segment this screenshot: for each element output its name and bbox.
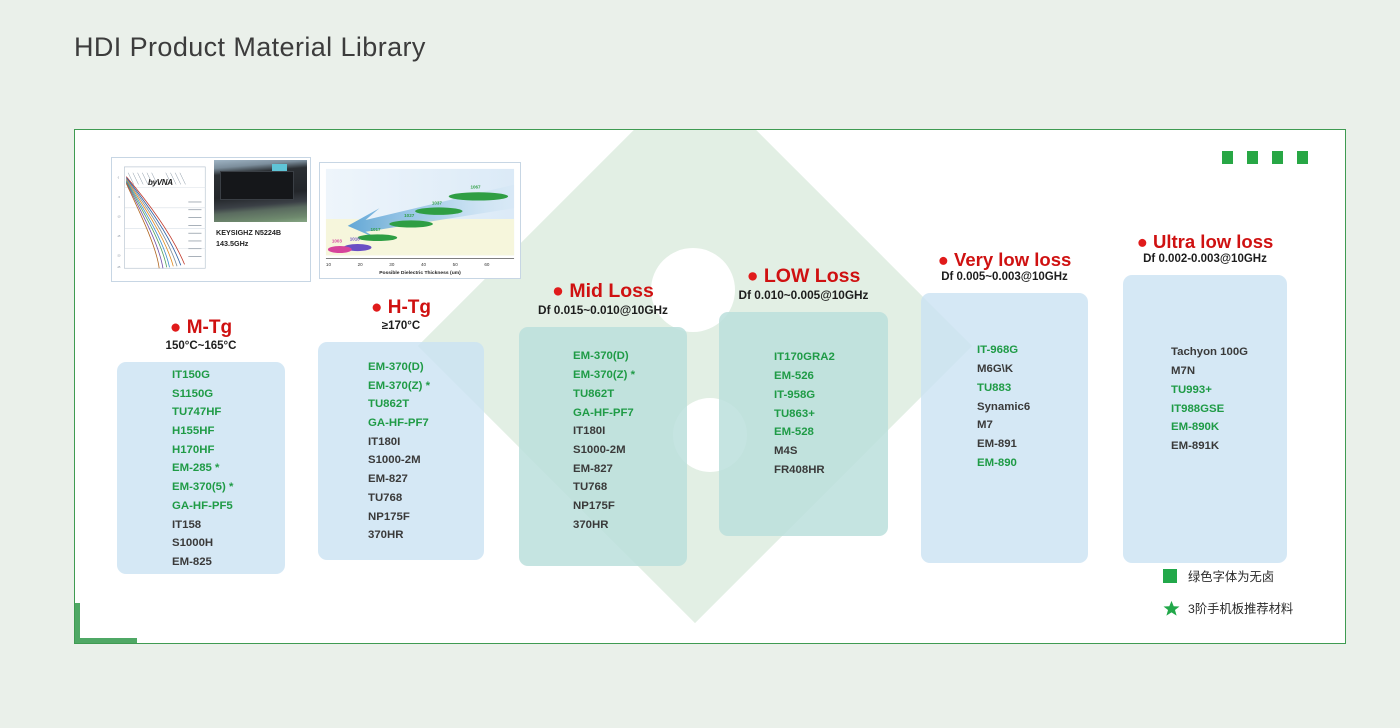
column-subtitle: Df 0.010~0.005@10GHz [719,288,888,302]
material-item[interactable]: EM-891K [1171,437,1287,456]
material-item[interactable]: IT180I [368,433,484,452]
svg-text:1027: 1027 [404,213,415,218]
svg-text:20: 20 [358,262,364,267]
svg-text:60: 60 [484,262,490,267]
material-list: EM-370(D)EM-370(Z) *TU862TGA-HF-PF7IT180… [318,342,484,545]
corner-accent-horizontal [75,638,137,643]
svg-text:1067: 1067 [470,185,481,190]
corner-accent-vertical [75,603,80,643]
material-item[interactable]: EM-370(D) [368,358,484,377]
legend-label-halogen-free: 绿色字体为无卤 [1188,567,1274,585]
material-column-low[interactable]: ● LOW LossDf 0.010~0.005@10GHzIT170GRA2E… [719,266,888,536]
material-item[interactable]: EM-890 [977,454,1088,473]
material-item[interactable]: EM-370(D) [573,347,687,366]
material-item[interactable]: H170HF [172,441,285,460]
column-subtitle: 150°C~165°C [117,340,285,352]
material-item[interactable]: TU768 [573,478,687,497]
column-subtitle: ≥170°C [318,320,484,332]
material-item[interactable]: EM-528 [774,423,888,442]
svg-text:40: 40 [421,262,427,267]
material-item[interactable]: EM-827 [573,460,687,479]
svg-text:-10: -10 [117,216,121,219]
material-column-verylow[interactable]: ● Very low lossDf 0.005~0.003@10GHzIT-96… [921,250,1088,563]
material-item[interactable]: 370HR [368,526,484,545]
svg-text:0: 0 [118,177,120,180]
svg-text:-20: -20 [117,255,121,258]
column-header: ● Very low lossDf 0.005~0.003@10GHz [921,250,1088,283]
material-item[interactable]: IT150G [172,366,285,385]
material-item[interactable]: IT988GSE [1171,400,1287,419]
vna-measurement-card: 0-5 -10-15 -20-25 byVNA KEYSIGHZ N5224B … [111,157,311,282]
material-item[interactable]: 370HR [573,516,687,535]
material-list: Tachyon 100GM7NTU993+IT988GSEEM-890KEM-8… [1123,275,1287,455]
material-item[interactable]: NP175F [573,497,687,516]
material-list: IT170GRA2EM-526IT-958GTU863+EM-528M4SFR4… [719,312,888,479]
column-header: ● Mid LossDf 0.015~0.010@10GHz [519,281,687,317]
material-item[interactable]: TU862T [573,385,687,404]
material-item[interactable]: M7N [1171,362,1287,381]
green-star-icon [1163,600,1180,617]
material-column-mid[interactable]: ● Mid LossDf 0.015~0.010@10GHzEM-370(D)E… [519,281,687,566]
column-title: ● Mid Loss [519,281,687,301]
bullet-icon: ● [938,249,954,270]
svg-text:-5: -5 [118,196,121,199]
svg-text:1010: 1010 [350,237,361,242]
material-item[interactable]: IT170GRA2 [774,348,888,367]
material-list: IT150GS1150GTU747HFH155HFH170HFEM-285 *E… [117,362,285,572]
decorative-dot [1272,151,1283,164]
legend: 绿色字体为无卤 3阶手机板推荐材料 [1163,567,1293,631]
material-list: EM-370(D)EM-370(Z) *TU862TGA-HF-PF7IT180… [519,327,687,534]
network-analyzer-photo [214,160,307,222]
material-card: IT-968GM6G\KTU883Synamic6M7EM-891EM-890 [921,293,1088,563]
decorative-dots [1222,151,1308,164]
bullet-icon: ● [747,265,764,287]
material-card: IT150GS1150GTU747HFH155HFH170HFEM-285 *E… [117,362,285,574]
material-item[interactable]: EM-526 [774,367,888,386]
material-card: Tachyon 100GM7NTU993+IT988GSEEM-890KEM-8… [1123,275,1287,563]
vna-caption: KEYSIGHZ N5224B 143.5GHz [214,222,307,250]
column-subtitle: Df 0.015~0.010@10GHz [519,303,687,317]
svg-text:1037: 1037 [432,200,443,205]
material-item[interactable]: GA-HF-PF7 [573,404,687,423]
svg-text:-25: -25 [117,266,121,269]
material-item[interactable]: M7 [977,416,1088,435]
material-card: EM-370(D)EM-370(Z) *TU862TGA-HF-PF7IT180… [519,327,687,566]
svg-text:-15: -15 [117,235,121,238]
material-item[interactable]: TU993+ [1171,381,1287,400]
column-subtitle: Df 0.002-0.003@10GHz [1123,253,1287,265]
green-square-icon [1163,569,1177,583]
svg-text:Possible Dielectric Thickness: Possible Dielectric Thickness (um) [379,270,461,276]
svg-text:1003: 1003 [332,239,343,244]
material-item[interactable]: EM-285 * [172,459,285,478]
legend-item-recommended: 3阶手机板推荐材料 [1163,599,1293,617]
column-title: ● H-Tg [318,298,484,318]
material-item[interactable]: EM-891 [977,435,1088,454]
column-header: ● LOW LossDf 0.010~0.005@10GHz [719,266,888,302]
column-header: ● Ultra low lossDf 0.002-0.003@10GHz [1123,232,1287,265]
material-item[interactable]: S1150G [172,385,285,404]
svg-text:1017: 1017 [370,227,381,232]
vna-insertion-loss-chart: 0-5 -10-15 -20-25 byVNA [112,158,212,281]
bullet-icon: ● [1137,231,1153,252]
material-item[interactable]: IT-968G [977,341,1088,360]
material-item[interactable]: NP175F [368,508,484,527]
column-title-label: M-Tg [187,317,232,338]
material-item[interactable]: GA-HF-PF5 [172,497,285,516]
material-item[interactable]: EM-825 [172,553,285,572]
material-item[interactable]: S1000-2M [573,441,687,460]
material-item[interactable]: TU862T [368,395,484,414]
column-title: ● Ultra low loss [1123,232,1287,251]
material-item[interactable]: EM-827 [368,470,484,489]
page-title: HDI Product Material Library [74,32,426,63]
material-column-ultralow[interactable]: ● Ultra low lossDf 0.002-0.003@10GHzTach… [1123,232,1287,563]
material-card: IT170GRA2EM-526IT-958GTU863+EM-528M4SFR4… [719,312,888,536]
column-subtitle: Df 0.005~0.003@10GHz [921,271,1088,283]
material-item[interactable]: TU863+ [774,405,888,424]
material-item[interactable]: TU768 [368,489,484,508]
legend-label-recommended: 3阶手机板推荐材料 [1188,599,1293,617]
column-title-label: Ultra low loss [1153,231,1273,252]
material-item[interactable]: Tachyon 100G [1171,343,1287,362]
material-item[interactable]: IT158 [172,516,285,535]
column-title-label: H-Tg [388,297,431,318]
column-title: ● M-Tg [117,318,285,338]
material-item[interactable]: TU747HF [172,403,285,422]
legend-item-halogen-free: 绿色字体为无卤 [1163,567,1293,585]
material-item[interactable]: EM-370(Z) * [573,366,687,385]
column-title: ● Very low loss [921,250,1088,269]
dielectric-thickness-chart: 1067 1037 1027 1017 1010 1003 102030 405… [319,162,521,279]
svg-text:30: 30 [389,262,395,267]
decorative-dot [1247,151,1258,164]
material-item[interactable]: EM-370(5) * [172,478,285,497]
vna-caption-line1: KEYSIGHZ N5224B [216,228,305,239]
column-title-label: Very low loss [954,249,1071,270]
material-item[interactable]: Synamic6 [977,398,1088,417]
column-title-label: LOW Loss [764,265,860,287]
material-list: IT-968GM6G\KTU883Synamic6M7EM-891EM-890 [921,293,1088,472]
column-header: ● M-Tg150°C~165°C [117,318,285,352]
material-column-htg[interactable]: ● H-Tg≥170°CEM-370(D)EM-370(Z) *TU862TGA… [318,298,484,560]
bullet-icon: ● [170,317,187,338]
material-item[interactable]: EM-370(Z) * [368,377,484,396]
column-title: ● LOW Loss [719,266,888,286]
material-item[interactable]: H155HF [172,422,285,441]
bullet-icon: ● [371,297,388,318]
column-header: ● H-Tg≥170°C [318,298,484,332]
column-title-label: Mid Loss [569,280,654,302]
material-item[interactable]: M4S [774,442,888,461]
material-item[interactable]: GA-HF-PF7 [368,414,484,433]
decorative-dot [1297,151,1308,164]
slide-canvas: HDI Product Material Library [0,0,1400,728]
material-item[interactable]: IT-958G [774,386,888,405]
material-item[interactable]: FR408HR [774,461,888,480]
vna-chart-label: byVNA [148,178,173,187]
material-card: EM-370(D)EM-370(Z) *TU862TGA-HF-PF7IT180… [318,342,484,560]
bullet-icon: ● [552,280,569,302]
material-item[interactable]: EM-890K [1171,418,1287,437]
svg-text:10: 10 [326,262,332,267]
material-item[interactable]: TU883 [977,379,1088,398]
material-column-mtg[interactable]: ● M-Tg150°C~165°CIT150GS1150GTU747HFH155… [117,318,285,574]
material-item[interactable]: S1000H [172,534,285,553]
vna-caption-line2: 143.5GHz [216,239,305,250]
material-item[interactable]: IT180I [573,422,687,441]
material-item[interactable]: S1000-2M [368,451,484,470]
decorative-dot [1222,151,1233,164]
material-item[interactable]: M6G\K [977,360,1088,379]
svg-text:50: 50 [453,262,459,267]
